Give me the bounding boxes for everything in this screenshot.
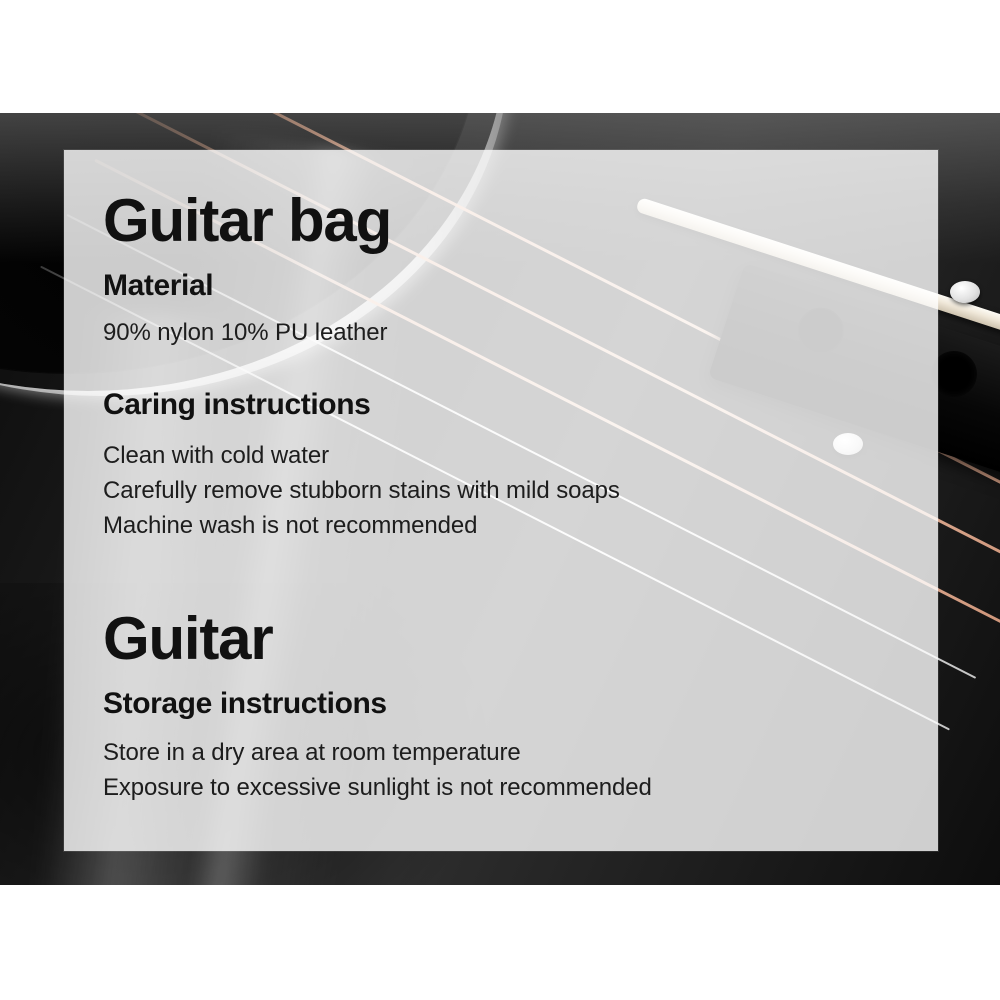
- info-panel: Guitar bag Material 90% nylon 10% PU lea…: [64, 150, 938, 851]
- section-title-guitar: Guitar: [103, 609, 903, 669]
- text-storage-line-1: Store in a dry area at room temperature: [103, 735, 903, 770]
- text-material-composition: 90% nylon 10% PU leather: [103, 315, 903, 350]
- heading-material: Material: [103, 271, 903, 301]
- text-storage-line-2: Exposure to excessive sunlight is not re…: [103, 770, 903, 805]
- info-panel-content: Guitar bag Material 90% nylon 10% PU lea…: [103, 150, 903, 851]
- heading-storage-instructions: Storage instructions: [103, 689, 903, 719]
- text-caring-line-1: Clean with cold water: [103, 438, 903, 473]
- heading-caring-instructions: Caring instructions: [103, 390, 903, 420]
- section-title-guitar-bag: Guitar bag: [103, 191, 903, 251]
- text-caring-line-2: Carefully remove stubborn stains with mi…: [103, 473, 903, 508]
- product-info-graphic: Guitar bag Material 90% nylon 10% PU lea…: [0, 0, 1000, 1000]
- text-caring-line-3: Machine wash is not recommended: [103, 508, 903, 543]
